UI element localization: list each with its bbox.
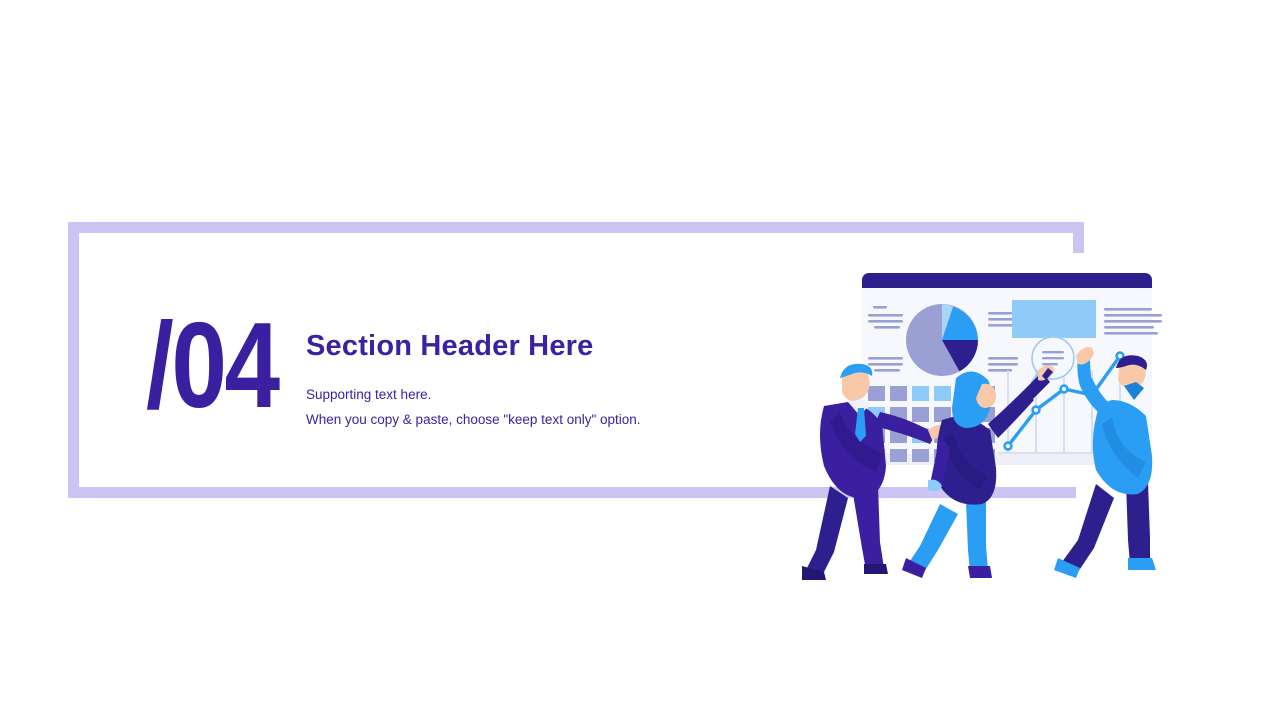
page-title: Section Header Here <box>306 328 846 364</box>
frame-top-border <box>68 222 1084 233</box>
pie-chart <box>906 304 978 376</box>
supporting-text-line-2: When you copy & paste, choose "keep text… <box>306 407 846 432</box>
text-block: Section Header Here Supporting text here… <box>306 328 846 432</box>
team-analytics-illustration <box>790 258 1210 588</box>
slide-canvas: /04 Section Header Here Supporting text … <box>0 0 1280 720</box>
whiteboard-header-bar <box>862 273 1152 288</box>
supporting-text-line-1: Supporting text here. <box>306 382 846 407</box>
frame-top-right-stub <box>1073 222 1084 253</box>
section-number: /04 <box>146 304 278 426</box>
frame-left-border <box>68 222 79 498</box>
image-placeholder <box>1012 300 1096 338</box>
